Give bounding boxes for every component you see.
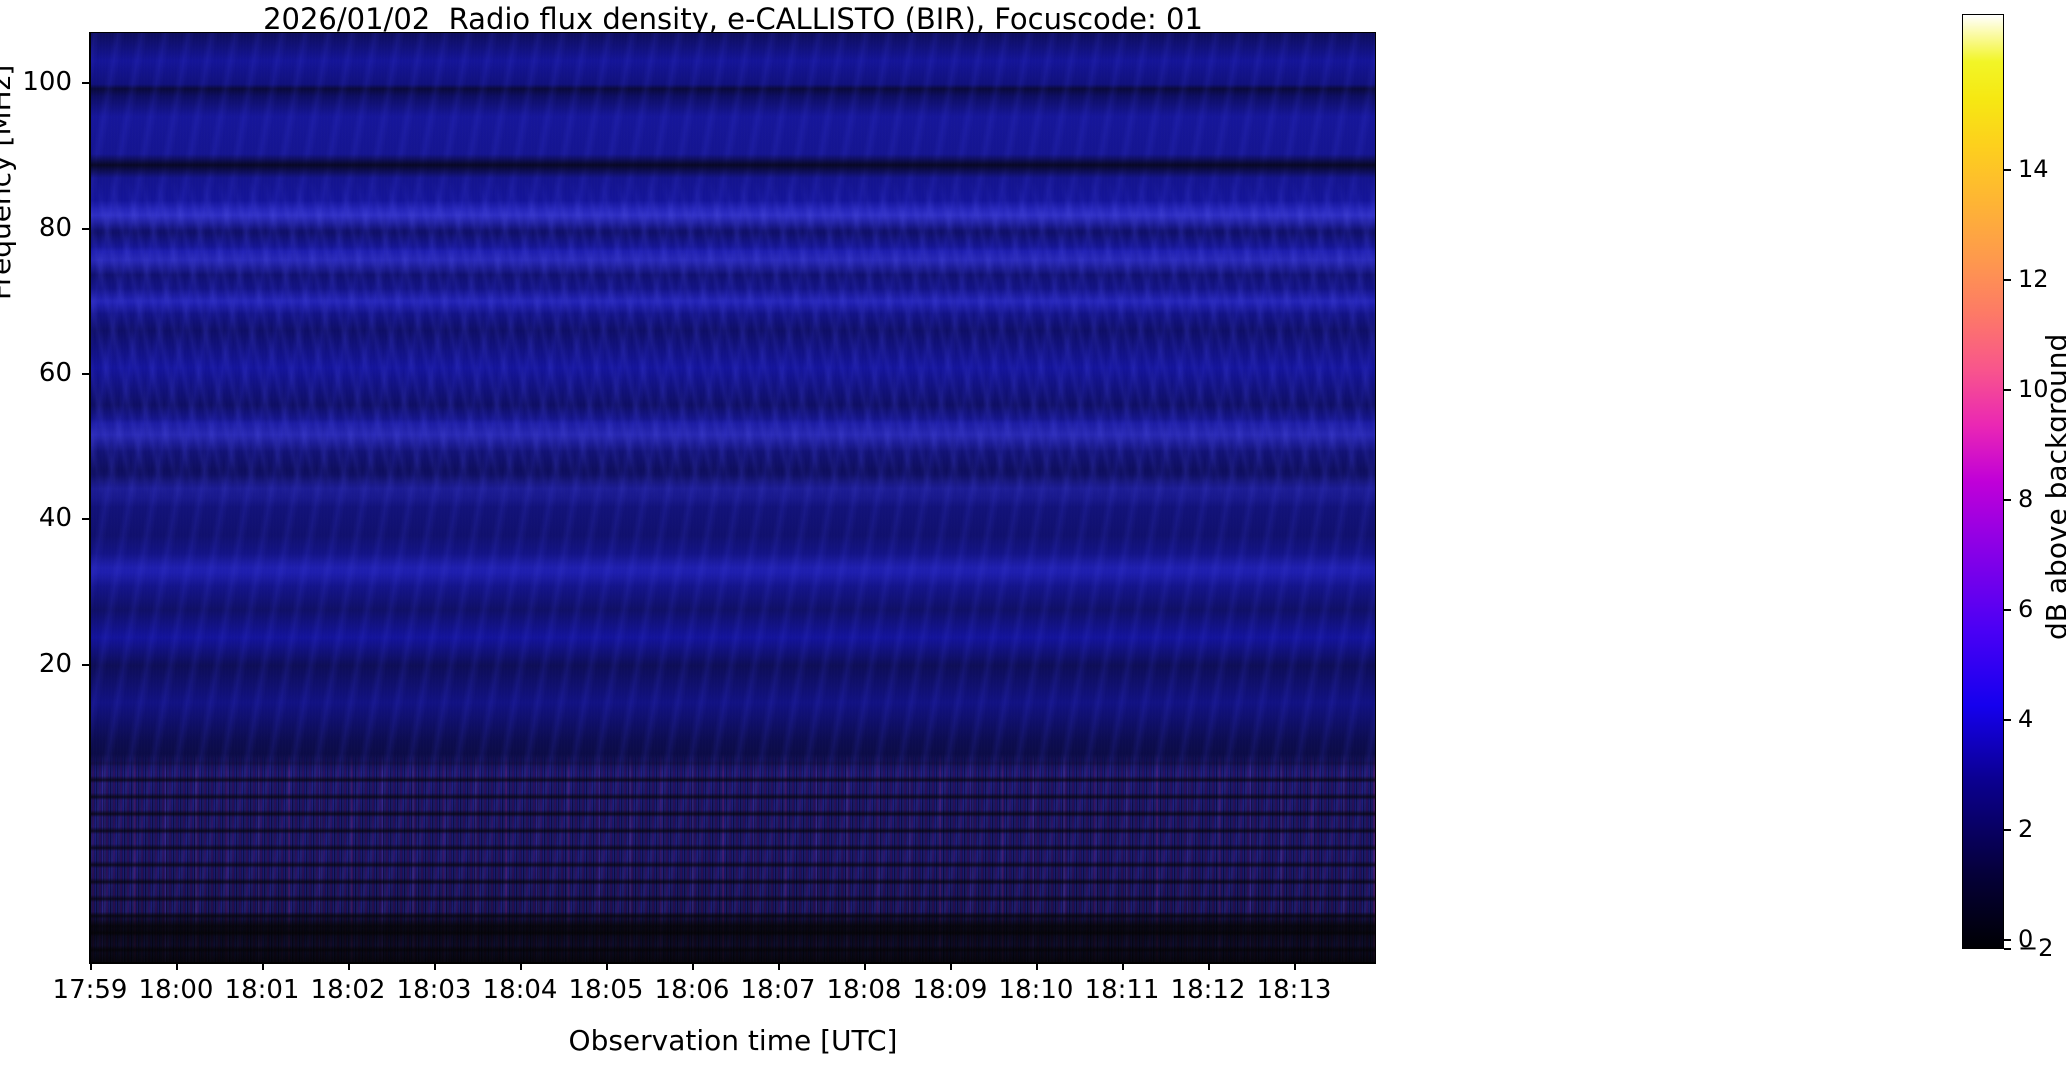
colorbar-tick-mark-minus2	[2004, 948, 2011, 950]
x-tick-mark-7	[692, 963, 694, 970]
x-tick-mark-3	[348, 963, 350, 970]
colorbar-tick-label-14: 14	[2018, 155, 2049, 183]
colorbar-tick-mark-12	[2004, 279, 2011, 281]
y-tick-mark-20	[82, 664, 89, 666]
colorbar-tick-label-minus2: −2	[2018, 934, 2053, 962]
y-axis-label: Frequency [MHz]	[0, 65, 17, 300]
y-tick-mark-80	[82, 228, 89, 230]
y-tick-mark-100	[82, 82, 89, 84]
colorbar-tick-mark-6	[2004, 609, 2011, 611]
x-tick-mark-6	[606, 963, 608, 970]
colorbar-tick-label-12: 12	[2018, 265, 2049, 293]
x-tick-mark-2	[262, 963, 264, 970]
spectrogram-time-noise	[90, 33, 1375, 963]
colorbar-tick-label-8: 8	[2018, 485, 2033, 513]
x-tick-mark-11	[1036, 963, 1038, 970]
x-axis-label: Observation time [UTC]	[0, 1024, 1466, 1057]
colorbar-tick-label-2: 2	[2018, 815, 2033, 843]
x-tick-mark-12	[1122, 963, 1124, 970]
axis-spine-bottom	[89, 962, 1376, 964]
x-tick-mark-5	[520, 963, 522, 970]
x-tick-mark-4	[434, 963, 436, 970]
colorbar: 14 12 10 8 6 4 2 0	[1962, 14, 2004, 949]
chart-title: 2026/01/02 Radio flux density, e-CALLIST…	[0, 2, 1466, 36]
colorbar-tick-mark-0	[2004, 939, 2011, 941]
x-tick-mark-8	[778, 963, 780, 970]
x-tick-mark-0	[90, 963, 92, 970]
axis-spine-left	[89, 33, 91, 964]
y-tick-mark-40	[82, 518, 89, 520]
x-tick-mark-1	[176, 963, 178, 970]
x-tick-mark-10	[950, 963, 952, 970]
colorbar-label: dB above background	[2040, 334, 2066, 640]
x-tick-mark-14	[1294, 963, 1296, 970]
y-tick-label-80: 80	[12, 213, 72, 243]
axis-spine-right	[1375, 33, 1376, 964]
y-tick-mark-60	[82, 373, 89, 375]
x-tick-mark-13	[1208, 963, 1210, 970]
y-tick-label-20: 20	[12, 649, 72, 679]
x-tick-label-14: 18:13	[1224, 975, 1364, 1005]
y-tick-label-100: 100	[12, 67, 72, 97]
x-tick-mark-9	[864, 963, 866, 970]
colorbar-tick-label-6: 6	[2018, 595, 2033, 623]
y-tick-label-40: 40	[12, 503, 72, 533]
colorbar-tick-mark-14	[2004, 169, 2011, 171]
colorbar-gradient	[1962, 14, 2004, 949]
y-tick-label-60: 60	[12, 358, 72, 388]
colorbar-tick-mark-4	[2004, 719, 2011, 721]
spectrogram-image	[90, 33, 1375, 963]
colorbar-tick-mark-2	[2004, 829, 2011, 831]
figure-canvas: 2026/01/02 Radio flux density, e-CALLIST…	[0, 0, 2066, 1067]
colorbar-tick-label-4: 4	[2018, 705, 2033, 733]
colorbar-tick-mark-8	[2004, 499, 2011, 501]
colorbar-tick-mark-10	[2004, 389, 2011, 391]
axis-spine-top	[89, 32, 1376, 33]
